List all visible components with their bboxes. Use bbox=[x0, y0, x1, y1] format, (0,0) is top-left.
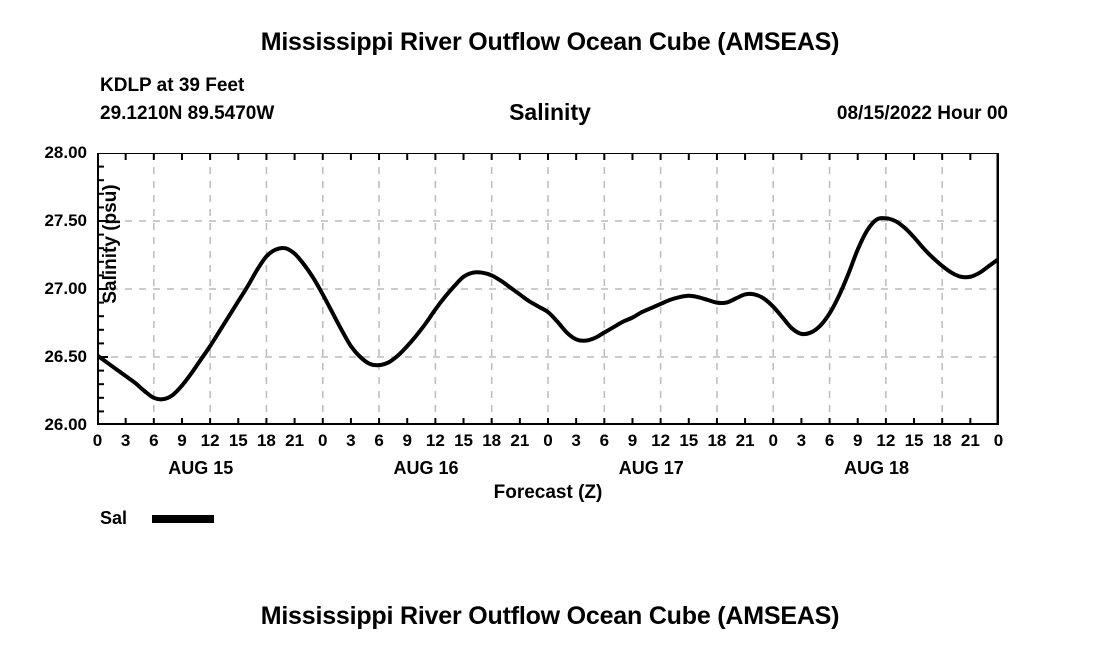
x-tick-23: 21 bbox=[736, 431, 755, 451]
x-tick-29: 15 bbox=[905, 431, 924, 451]
x-tick-5: 15 bbox=[229, 431, 248, 451]
x-tick-32: 0 bbox=[994, 431, 1003, 451]
x-day-label-aug-17: AUG 17 bbox=[619, 458, 684, 479]
legend-swatch-sal bbox=[152, 515, 214, 523]
x-tick-1: 3 bbox=[121, 431, 130, 451]
x-day-label-aug-18: AUG 18 bbox=[844, 458, 909, 479]
grid-lines bbox=[97, 153, 999, 425]
x-tick-13: 15 bbox=[454, 431, 473, 451]
x-tick-8: 0 bbox=[318, 431, 327, 451]
y-tick-27.00: 27.00 bbox=[44, 279, 87, 299]
x-tick-0: 0 bbox=[93, 431, 102, 451]
x-tick-24: 0 bbox=[769, 431, 778, 451]
x-tick-25: 3 bbox=[797, 431, 806, 451]
x-tick-2: 6 bbox=[149, 431, 158, 451]
x-tick-26: 6 bbox=[825, 431, 834, 451]
y-tick-28.00: 28.00 bbox=[44, 143, 87, 163]
chart-page: Mississippi River Outflow Ocean Cube (AM… bbox=[0, 0, 1100, 650]
x-day-label-aug-15: AUG 15 bbox=[168, 458, 233, 479]
x-tick-21: 15 bbox=[679, 431, 698, 451]
x-tick-6: 18 bbox=[257, 431, 276, 451]
x-tick-18: 6 bbox=[600, 431, 609, 451]
x-tick-30: 18 bbox=[933, 431, 952, 451]
x-tick-10: 6 bbox=[374, 431, 383, 451]
x-tick-22: 18 bbox=[707, 431, 726, 451]
x-axis-title: Forecast (Z) bbox=[97, 482, 999, 504]
x-tick-19: 9 bbox=[628, 431, 637, 451]
model-run-stamp: 08/15/2022 Hour 00 bbox=[837, 103, 1008, 125]
x-tick-27: 9 bbox=[853, 431, 862, 451]
y-axis-title: Salinity (psu) bbox=[100, 164, 122, 324]
x-tick-12: 12 bbox=[426, 431, 445, 451]
y-tick-26.00: 26.00 bbox=[44, 415, 87, 435]
x-tick-11: 9 bbox=[402, 431, 411, 451]
x-tick-15: 21 bbox=[510, 431, 529, 451]
legend-label-sal: Sal bbox=[100, 508, 152, 529]
y-tick-27.50: 27.50 bbox=[44, 211, 87, 231]
x-tick-7: 21 bbox=[285, 431, 304, 451]
x-tick-31: 21 bbox=[961, 431, 980, 451]
x-tick-4: 12 bbox=[201, 431, 220, 451]
legend: Sal bbox=[100, 508, 214, 529]
x-day-label-aug-16: AUG 16 bbox=[393, 458, 458, 479]
page-title-bottom: Mississippi River Outflow Ocean Cube (AM… bbox=[0, 602, 1100, 631]
page-title-top: Mississippi River Outflow Ocean Cube (AM… bbox=[0, 28, 1100, 57]
y-tick-26.50: 26.50 bbox=[44, 347, 87, 367]
plot-area: Salinity (psu) 26.0026.5027.0027.5028.00… bbox=[97, 153, 999, 425]
x-tick-20: 12 bbox=[651, 431, 670, 451]
x-tick-16: 0 bbox=[543, 431, 552, 451]
x-tick-3: 9 bbox=[177, 431, 186, 451]
x-tick-9: 3 bbox=[346, 431, 355, 451]
x-tick-17: 3 bbox=[571, 431, 580, 451]
x-tick-28: 12 bbox=[876, 431, 895, 451]
salinity-line-chart bbox=[97, 153, 999, 425]
x-tick-14: 18 bbox=[482, 431, 501, 451]
station-label: KDLP at 39 Feet bbox=[100, 75, 244, 97]
